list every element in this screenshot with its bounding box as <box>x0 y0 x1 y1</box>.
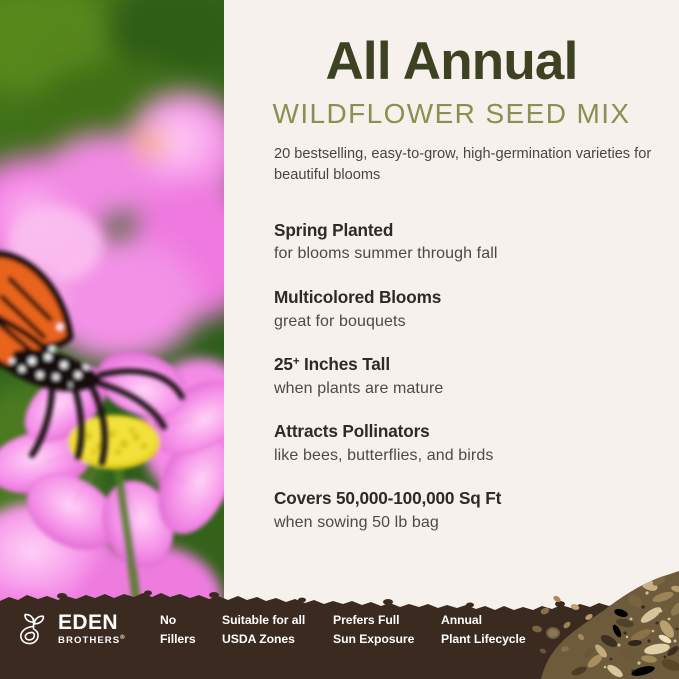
butterfly-on-cosmos-illustration <box>0 0 224 679</box>
feature-detail: great for bouquets <box>274 311 674 334</box>
feature-detail: when plants are mature <box>274 378 674 401</box>
feature-heading: Covers 50,000-100,000 Sq Ft <box>274 487 674 510</box>
feature-detail: when sowing 50 lb bag <box>274 512 674 535</box>
feature-item-height: 25+ Inches Tall when plants are mature <box>274 353 674 400</box>
product-photo <box>0 0 224 679</box>
brand-logo[interactable]: EDEN BROTHERS® <box>17 612 126 646</box>
page-subtitle: WILDFLOWER SEED MIX <box>224 96 679 131</box>
sprout-seed-icon <box>17 612 51 646</box>
feature-heading-rest: Inches Tall <box>299 354 390 374</box>
spec-plant-lifecycle: Annual Plant Lifecycle <box>441 611 526 648</box>
brand-name: EDEN <box>58 612 126 633</box>
product-info-card: All Annual WILDFLOWER SEED MIX 20 bestse… <box>0 0 679 679</box>
feature-item-multicolored-blooms: Multicolored Blooms great for bouquets <box>274 286 674 333</box>
brand-wordmark: EDEN BROTHERS® <box>58 612 126 646</box>
info-panel: All Annual WILDFLOWER SEED MIX 20 bestse… <box>224 0 679 679</box>
feature-list: Spring Planted for blooms summer through… <box>274 219 674 535</box>
spec-no-fillers: No Fillers <box>160 611 196 648</box>
spec-sun-exposure: Prefers Full Sun Exposure <box>333 611 414 648</box>
feature-heading: Spring Planted <box>274 219 674 242</box>
feature-heading: Attracts Pollinators <box>274 420 674 443</box>
title-block: All Annual WILDFLOWER SEED MIX <box>224 34 679 131</box>
feature-detail: for blooms summer through fall <box>274 243 674 266</box>
brand-subname: BROTHERS® <box>58 635 126 646</box>
feature-heading: Multicolored Blooms <box>274 286 674 309</box>
footer-content: EDEN BROTHERS® No Fillers Suitable for a… <box>0 584 679 679</box>
feature-heading-number: 25 <box>274 354 293 374</box>
tagline: 20 bestselling, easy-to-grow, high-germi… <box>274 144 674 185</box>
page-title: All Annual <box>224 34 679 90</box>
registered-mark: ® <box>120 635 125 641</box>
feature-item-spring-planted: Spring Planted for blooms summer through… <box>274 219 674 266</box>
feature-heading: 25+ Inches Tall <box>274 353 674 376</box>
feature-item-attracts-pollinators: Attracts Pollinators like bees, butterfl… <box>274 420 674 467</box>
feature-detail: like bees, butterflies, and birds <box>274 445 674 468</box>
spec-usda-zones: Suitable for all USDA Zones <box>222 611 305 648</box>
feature-item-coverage: Covers 50,000-100,000 Sq Ft when sowing … <box>274 487 674 534</box>
footer-bar: EDEN BROTHERS® No Fillers Suitable for a… <box>0 584 679 679</box>
